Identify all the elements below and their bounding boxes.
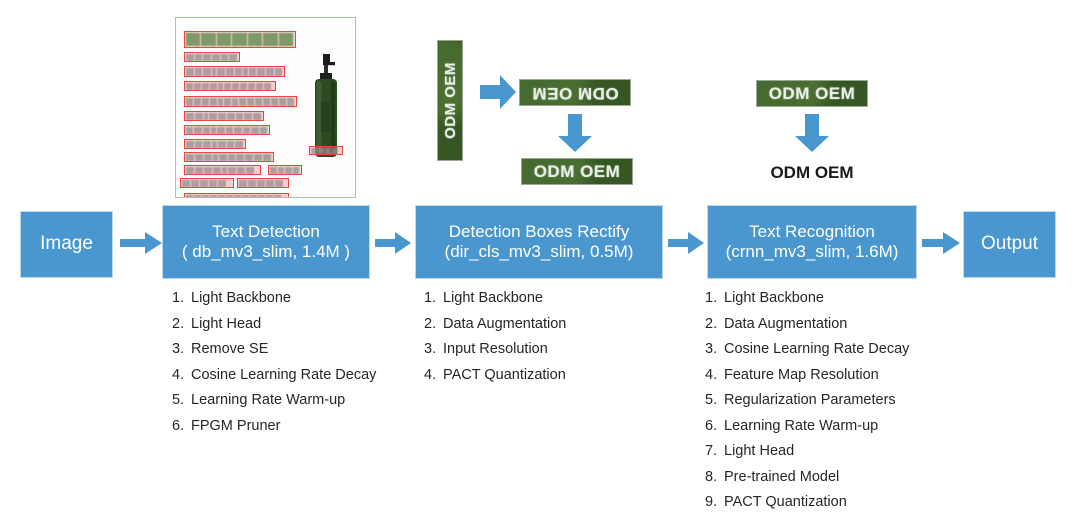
- list-item: 8.Pre-trained Model: [705, 465, 909, 491]
- list-item-label: Cosine Learning Rate Decay: [191, 363, 376, 389]
- list-item-label: FPGM Pruner: [191, 414, 280, 440]
- stage-detect-line1: Text Detection: [182, 222, 350, 242]
- arrow-right-icon: [120, 230, 162, 256]
- stage-box-output[interactable]: Output: [963, 211, 1056, 278]
- list-item-label: Light Head: [191, 312, 261, 338]
- stage-box-text-recognition[interactable]: Text Recognition (crnn_mv3_slim, 1.6M): [707, 205, 917, 279]
- list-item-number: 6.: [705, 414, 724, 440]
- blurred-text: [186, 32, 294, 47]
- text-detection-box: [268, 165, 302, 175]
- list-item: 4.PACT Quantization: [424, 363, 566, 389]
- arrow-down-icon: [795, 114, 829, 152]
- arrow-right-icon: [922, 230, 960, 256]
- list-item: 2.Data Augmentation: [705, 312, 909, 338]
- stage-rectify-line1: Detection Boxes Rectify: [445, 222, 634, 242]
- crop-recognition-label: ODM OEM: [769, 84, 856, 104]
- recognition-optimization-list: 1.Light Backbone2.Data Augmentation3.Cos…: [705, 286, 909, 516]
- text-detection-box: [184, 125, 270, 135]
- detection-optimization-list: 1.Light Backbone2.Light Head3.Remove SE4…: [172, 286, 376, 439]
- text-detection-box: [184, 66, 285, 77]
- list-item-number: 5.: [705, 388, 724, 414]
- text-detection-box: [309, 146, 343, 155]
- list-item-number: 9.: [705, 490, 724, 516]
- text-detection-box: [184, 111, 264, 121]
- list-item-label: Learning Rate Warm-up: [724, 414, 878, 440]
- list-item: 1.Light Backbone: [172, 286, 376, 312]
- rectify-optimization-list: 1.Light Backbone2.Data Augmentation3.Inp…: [424, 286, 566, 388]
- arrow-right-icon: [480, 75, 516, 109]
- list-item: 3.Input Resolution: [424, 337, 566, 363]
- crop-rotated-odm-oem: ODM OEM: [519, 79, 631, 106]
- list-item-label: Feature Map Resolution: [724, 363, 879, 389]
- list-item-number: 4.: [172, 363, 191, 389]
- text-detection-box: [180, 178, 234, 188]
- arrow-right-icon: [668, 230, 704, 256]
- crop-corrected-odm-oem: ODM OEM: [521, 158, 633, 185]
- stage-detect-line2: ( db_mv3_slim, 1.4M ): [182, 242, 350, 262]
- list-item-label: Light Backbone: [443, 286, 543, 312]
- list-item: 2.Data Augmentation: [424, 312, 566, 338]
- list-item-number: 3.: [172, 337, 191, 363]
- list-item-label: PACT Quantization: [724, 490, 847, 516]
- list-item-number: 3.: [705, 337, 724, 363]
- list-item-label: Light Backbone: [724, 286, 824, 312]
- stage-box-detection-boxes-rectify[interactable]: Detection Boxes Rectify (dir_cls_mv3_sli…: [415, 205, 663, 279]
- list-item-label: Data Augmentation: [443, 312, 566, 338]
- list-item-label: Light Backbone: [191, 286, 291, 312]
- stage-rectify-line2: (dir_cls_mv3_slim, 0.5M): [445, 242, 634, 262]
- list-item-label: Pre-trained Model: [724, 465, 839, 491]
- list-item: 7.Light Head: [705, 439, 909, 465]
- list-item: 5.Learning Rate Warm-up: [172, 388, 376, 414]
- stage-recog-line1: Text Recognition: [726, 222, 899, 242]
- list-item-number: 2.: [172, 312, 191, 338]
- list-item: 9.PACT Quantization: [705, 490, 909, 516]
- text-detection-box: [184, 96, 297, 107]
- list-item: 5.Regularization Parameters: [705, 388, 909, 414]
- stage-recog-line2: (crnn_mv3_slim, 1.6M): [726, 242, 899, 262]
- list-item-number: 4.: [705, 363, 724, 389]
- list-item: 4.Cosine Learning Rate Decay: [172, 363, 376, 389]
- crop-vertical-label: ODM OEM: [442, 62, 459, 139]
- list-item-number: 5.: [172, 388, 191, 414]
- list-item-number: 1.: [424, 286, 443, 312]
- list-item: 4.Feature Map Resolution: [705, 363, 909, 389]
- list-item-label: PACT Quantization: [443, 363, 566, 389]
- stage-box-image[interactable]: Image: [20, 211, 113, 278]
- list-item-label: Learning Rate Warm-up: [191, 388, 345, 414]
- list-item-label: Input Resolution: [443, 337, 548, 363]
- list-item-label: Cosine Learning Rate Decay: [724, 337, 909, 363]
- list-item-number: 7.: [705, 439, 724, 465]
- arrow-down-icon: [558, 114, 592, 152]
- list-item-number: 4.: [424, 363, 443, 389]
- text-detection-box: [184, 31, 296, 48]
- text-detection-box: [237, 178, 289, 188]
- list-item-label: Light Head: [724, 439, 794, 465]
- list-item-number: 2.: [424, 312, 443, 338]
- list-item-number: 8.: [705, 465, 724, 491]
- list-item-number: 1.: [172, 286, 191, 312]
- list-item: 6.FPGM Pruner: [172, 414, 376, 440]
- product-bottle-illustration: [311, 54, 341, 158]
- list-item: 3.Cosine Learning Rate Decay: [705, 337, 909, 363]
- list-item: 1.Light Backbone: [424, 286, 566, 312]
- text-detection-box: [184, 52, 240, 62]
- stage-image-line1: Image: [40, 233, 93, 255]
- list-item-label: Regularization Parameters: [724, 388, 896, 414]
- list-item: 3.Remove SE: [172, 337, 376, 363]
- stage-box-text-detection[interactable]: Text Detection ( db_mv3_slim, 1.4M ): [162, 205, 370, 279]
- crop-vertical-odm-oem: ODM OEM: [437, 40, 463, 161]
- list-item-label: Remove SE: [191, 337, 268, 363]
- recognized-text-output: ODM OEM: [756, 163, 868, 183]
- arrow-right-icon: [375, 230, 411, 256]
- crop-rotated-label: ODM OEM: [532, 83, 619, 103]
- list-item: 1.Light Backbone: [705, 286, 909, 312]
- text-detection-box: [184, 165, 261, 175]
- list-item-label: Data Augmentation: [724, 312, 847, 338]
- list-item-number: 2.: [705, 312, 724, 338]
- text-detection-box: [184, 152, 274, 162]
- text-detection-box: [184, 81, 276, 91]
- stage-output-line1: Output: [981, 233, 1038, 255]
- list-item: 6.Learning Rate Warm-up: [705, 414, 909, 440]
- text-detection-box: [184, 139, 246, 149]
- list-item-number: 3.: [424, 337, 443, 363]
- detection-sample-image: [175, 17, 356, 198]
- list-item-number: 6.: [172, 414, 191, 440]
- crop-corrected-label: ODM OEM: [534, 162, 621, 182]
- list-item-number: 1.: [705, 286, 724, 312]
- crop-recognition-input: ODM OEM: [756, 80, 868, 107]
- list-item: 2.Light Head: [172, 312, 376, 338]
- text-detection-box: [184, 193, 289, 198]
